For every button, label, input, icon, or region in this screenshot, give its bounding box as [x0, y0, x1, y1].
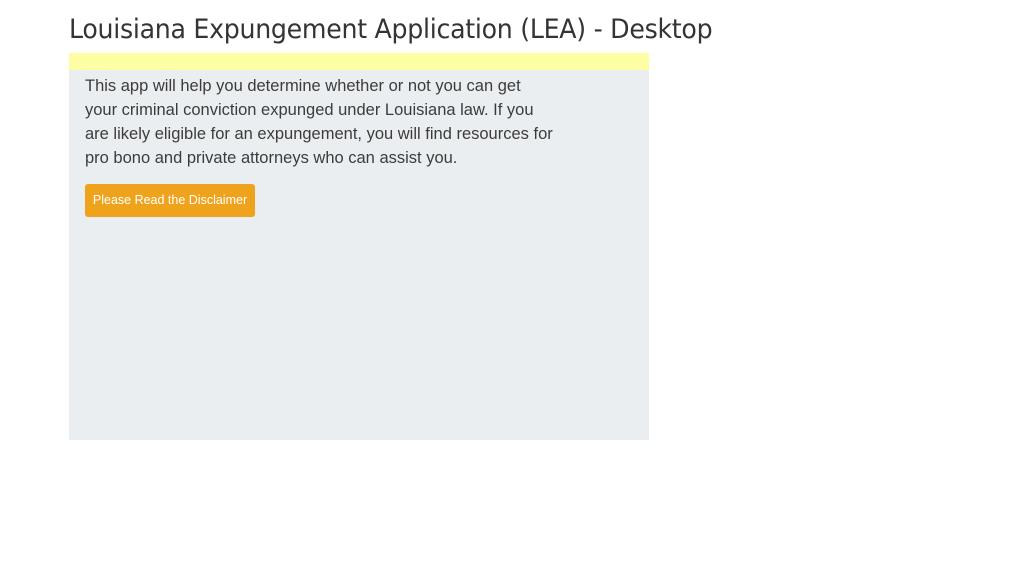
card-body: This app will help you determine whether…	[69, 70, 649, 440]
intro-line: are likely eligible for an expungement, …	[85, 122, 609, 146]
intro-card: This app will help you determine whether…	[69, 53, 649, 440]
card-accent-bar	[69, 53, 649, 70]
intro-line: This app will help you determine whether…	[85, 74, 609, 98]
intro-line: pro bono and private attorneys who can a…	[85, 146, 609, 170]
page-title: Louisiana Expungement Application (LEA) …	[69, 11, 712, 49]
intro-paragraph: This app will help you determine whether…	[85, 74, 609, 170]
read-disclaimer-button[interactable]: Please Read the Disclaimer	[85, 184, 255, 217]
app-root: Louisiana Expungement Application (LEA) …	[0, 0, 1024, 579]
intro-line: your criminal conviction expunged under …	[85, 98, 609, 122]
